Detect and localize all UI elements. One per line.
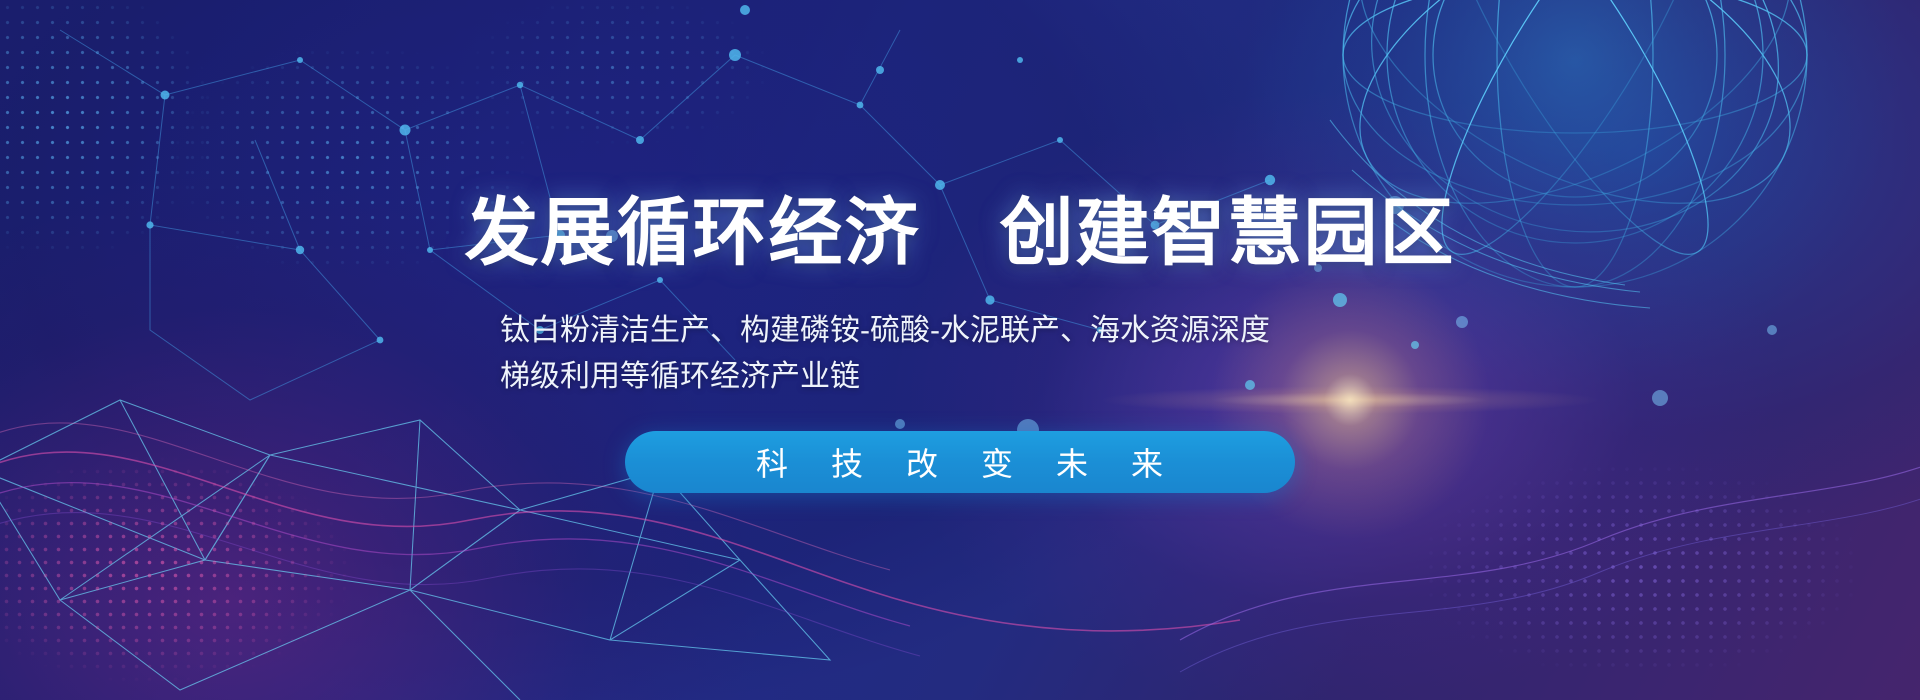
headline-part-2: 创建智慧园区 — [1000, 191, 1456, 274]
subtitle-line-2: 梯级利用等循环经济产业链 — [500, 354, 1420, 400]
banner-subtitle: 钛白粉清洁生产、构建磷铵-硫酸-水泥联产、海水资源深度 梯级利用等循环经济产业链 — [500, 308, 1420, 399]
banner-headline: 发展循环经济 创建智慧园区 — [464, 196, 1455, 270]
cta-char-4: 变 — [981, 439, 1014, 485]
hero-banner: 发展循环经济 创建智慧园区 钛白粉清洁生产、构建磷铵-硫酸-水泥联产、海水资源深… — [0, 0, 1920, 700]
subtitle-line-1: 钛白粉清洁生产、构建磷铵-硫酸-水泥联产、海水资源深度 — [500, 308, 1420, 354]
cta-slogan-pill[interactable]: 科 技 改 变 未 来 — [625, 431, 1295, 493]
cta-char-3: 改 — [906, 439, 939, 485]
cta-char-1: 科 — [756, 439, 789, 485]
headline-part-1: 发展循环经济 — [464, 191, 920, 274]
cta-char-5: 未 — [1056, 439, 1089, 485]
cta-char-6: 来 — [1131, 439, 1164, 485]
cta-char-2: 技 — [831, 439, 864, 485]
banner-content: 发展循环经济 创建智慧园区 钛白粉清洁生产、构建磷铵-硫酸-水泥联产、海水资源深… — [0, 0, 1920, 700]
